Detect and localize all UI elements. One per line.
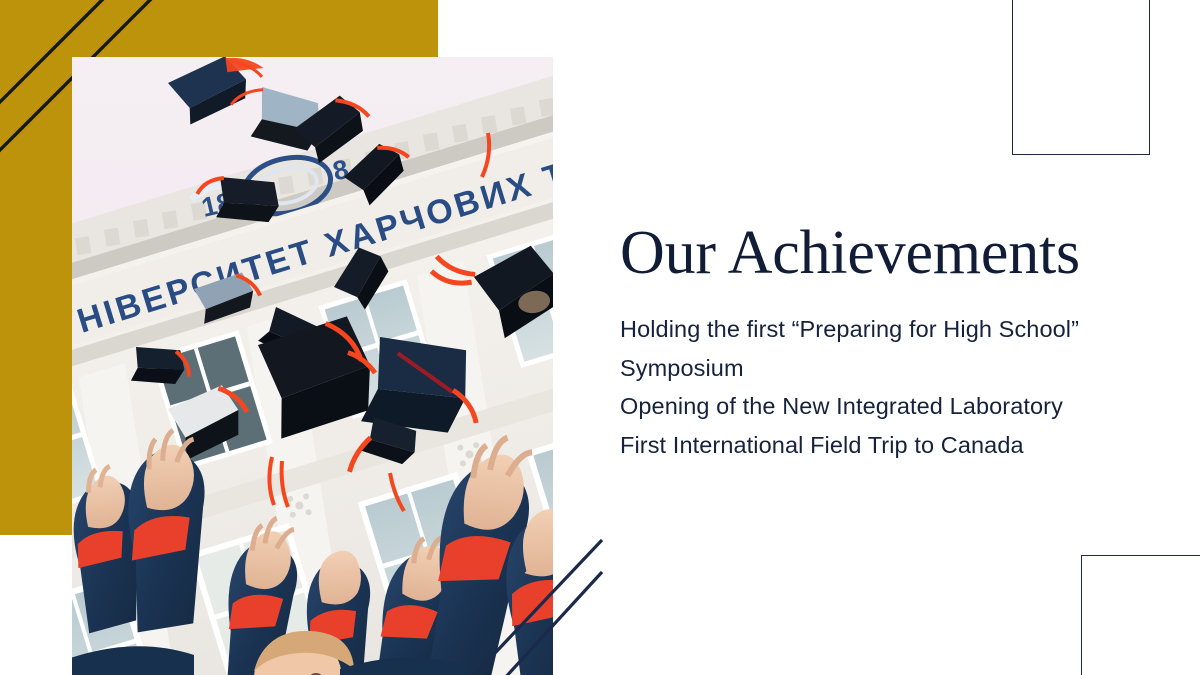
slide-canvas: 18 8 НИЙ УНІВЕРСИТЕТ ХАРЧОВИХ Т [0, 0, 1200, 675]
list-item: Holding the first “Preparing for High Sc… [620, 310, 1090, 387]
slide-content: Our Achievements Holding the first “Prep… [620, 222, 1150, 464]
list-item: First International Field Trip to Canada [620, 426, 1150, 465]
page-title: Our Achievements [620, 222, 1150, 284]
achievements-list: Holding the first “Preparing for High Sc… [620, 310, 1150, 464]
top-right-outline-rectangle [1012, 0, 1150, 155]
bottom-right-outline-rectangle [1081, 555, 1200, 675]
list-item: Opening of the New Integrated Laboratory [620, 387, 1090, 426]
graduation-photo: 18 8 НИЙ УНІВЕРСИТЕТ ХАРЧОВИХ Т [72, 57, 553, 675]
